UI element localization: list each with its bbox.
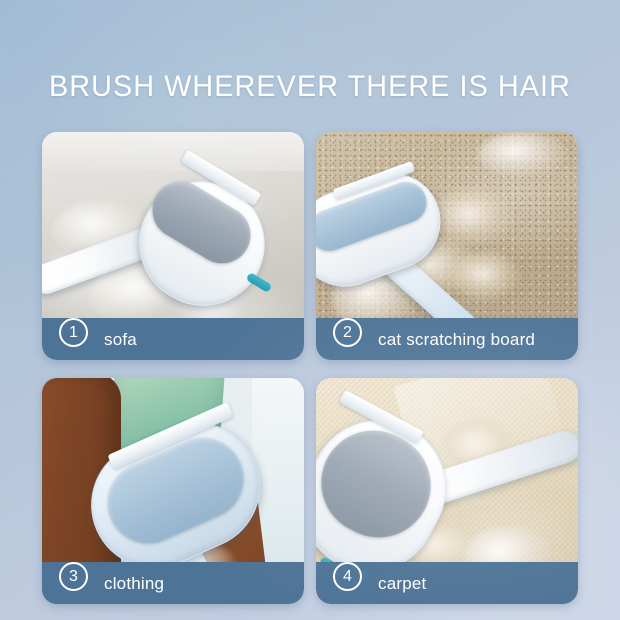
product-infographic-poster: BRUSH WHEREVER THERE IS HAIR: [0, 0, 620, 620]
brush-edge-accent: [246, 272, 273, 293]
scenario-card-clothing[interactable]: clothing 3: [42, 378, 304, 604]
scenario-number-badge: 2: [333, 318, 362, 347]
scenario-number-badge: 3: [59, 562, 88, 591]
scenario-label: carpet: [378, 575, 426, 592]
scenario-card-carpet[interactable]: carpet 4: [316, 378, 578, 604]
scenario-label: sofa: [104, 331, 137, 348]
page-title: BRUSH WHEREVER THERE IS HAIR: [12, 72, 607, 102]
scenario-number-badge: 1: [59, 318, 88, 347]
scenario-card-grid: sofa 1: [42, 132, 578, 604]
scenario-card-sofa[interactable]: sofa 1: [42, 132, 304, 360]
scenario-number-badge: 4: [333, 562, 362, 591]
scenario-label: cat scratching board: [378, 331, 535, 348]
scenario-label: clothing: [104, 575, 164, 592]
scenario-card-cat-scratching-board[interactable]: cat scratching board 2: [316, 132, 578, 360]
